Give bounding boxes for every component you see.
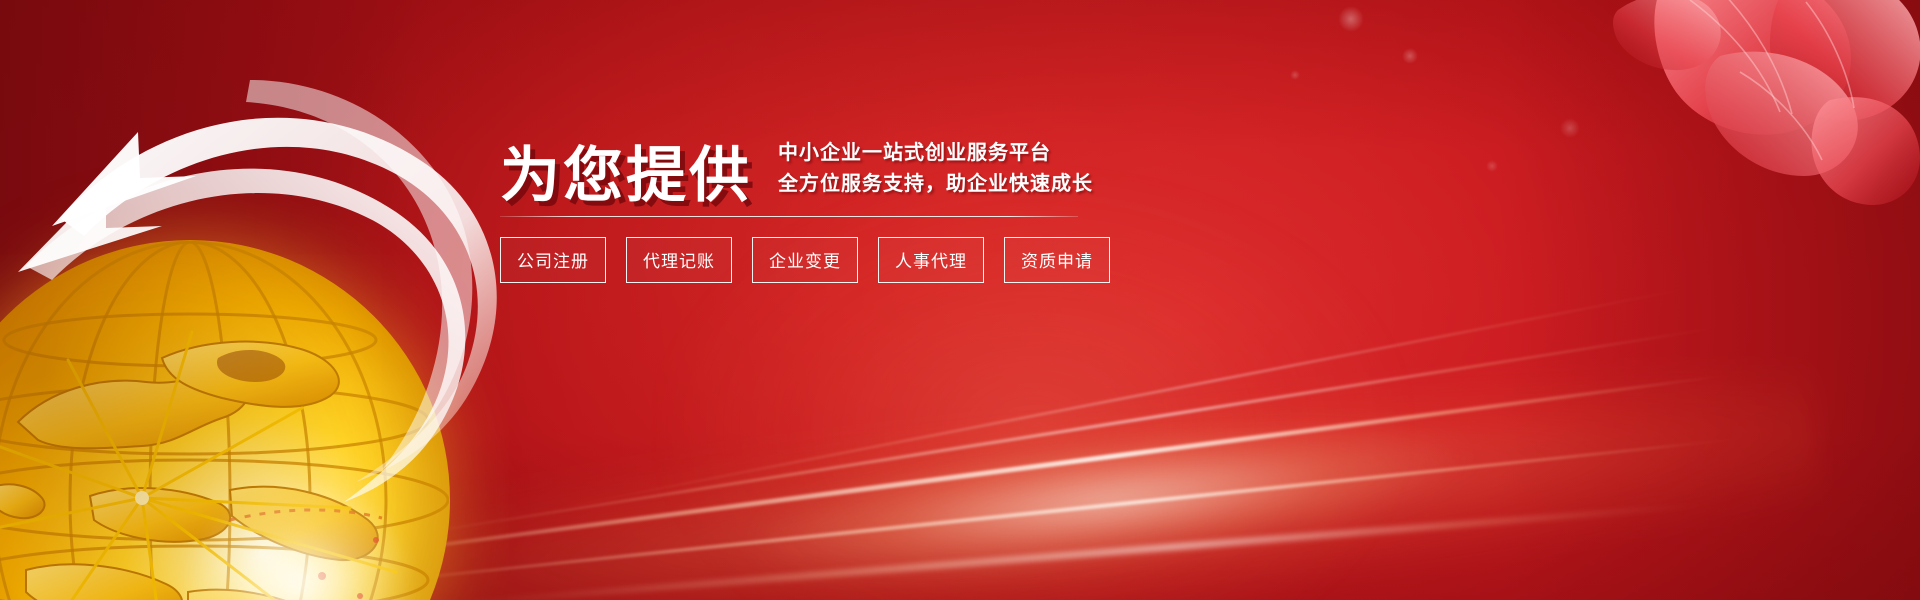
headline-row: 为您提供 中小企业一站式创业服务平台 全方位服务支持，助企业快速成长 xyxy=(500,138,1100,206)
divider xyxy=(500,216,1078,217)
promo-banner: 为您提供 中小企业一站式创业服务平台 全方位服务支持，助企业快速成长 公司注册 … xyxy=(0,0,1920,600)
sparkle-dot xyxy=(1338,6,1364,32)
service-tag-qualification-application[interactable]: 资质申请 xyxy=(1004,237,1110,283)
page-title: 为您提供 xyxy=(500,146,752,206)
service-tag-bookkeeping[interactable]: 代理记账 xyxy=(626,237,732,283)
service-tag-hr-agency[interactable]: 人事代理 xyxy=(878,237,984,283)
sparkle-dot xyxy=(1486,160,1498,172)
flower-decoration-icon xyxy=(1360,0,1920,280)
sparkle-dot xyxy=(1290,70,1300,80)
subtitle-line-1: 中小企业一站式创业服务平台 xyxy=(778,138,1093,169)
subtitle-block: 中小企业一站式创业服务平台 全方位服务支持，助企业快速成长 xyxy=(778,138,1093,206)
subtitle-line-2: 全方位服务支持，助企业快速成长 xyxy=(778,169,1093,200)
service-tag-company-registration[interactable]: 公司注册 xyxy=(500,237,606,283)
service-tag-list: 公司注册 代理记账 企业变更 人事代理 资质申请 xyxy=(500,237,1100,283)
service-tag-business-change[interactable]: 企业变更 xyxy=(752,237,858,283)
sparkle-dot xyxy=(1560,118,1580,138)
sparkle-dot xyxy=(1402,48,1418,64)
banner-content: 为您提供 中小企业一站式创业服务平台 全方位服务支持，助企业快速成长 公司注册 … xyxy=(500,138,1100,283)
